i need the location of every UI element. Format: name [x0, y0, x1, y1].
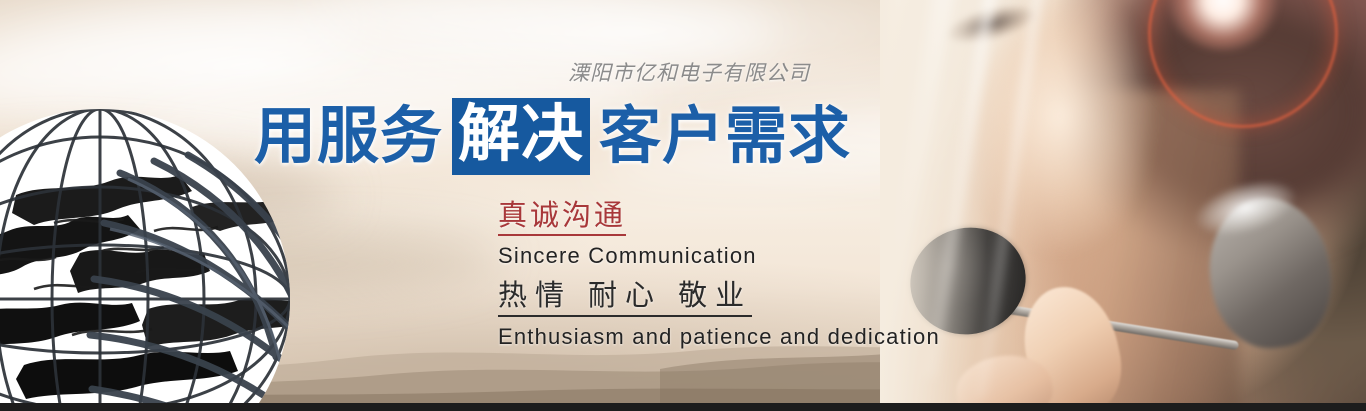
slogan-cn-sincere: 真诚沟通: [498, 200, 626, 236]
slogan-en-sincere: Sincere Communication: [498, 243, 940, 269]
promotional-banner: 溧阳市亿和电子有限公司 用服务 解决 客户需求 真诚沟通 Sincere Com…: [0, 0, 1366, 411]
slogan-cn-enthusiasm: 热情 耐心 敬业: [498, 280, 752, 316]
headline-after: 客户需求: [597, 106, 853, 168]
slogan-en-enthusiasm: Enthusiasm and patience and dedication: [498, 324, 940, 350]
slogan-item: 热情 耐心 敬业 Enthusiasm and patience and ded…: [498, 280, 940, 349]
banner-copy: 溧阳市亿和电子有限公司 用服务 解决 客户需求 真诚沟通 Sincere Com…: [0, 0, 900, 411]
slogan-item: 真诚沟通 Sincere Communication: [498, 200, 940, 269]
photo-edge-fade: [880, 0, 1366, 403]
headset-operator-photo: [880, 0, 1366, 403]
company-name: 溧阳市亿和电子有限公司: [568, 57, 810, 87]
bottom-divider: [0, 403, 1366, 411]
headline-before: 用服务: [252, 106, 445, 168]
slogan-block: 真诚沟通 Sincere Communication 热情 耐心 敬业 Enth…: [498, 200, 940, 361]
headline: 用服务 解决 客户需求: [252, 98, 853, 175]
headline-highlight: 解决: [452, 98, 590, 175]
